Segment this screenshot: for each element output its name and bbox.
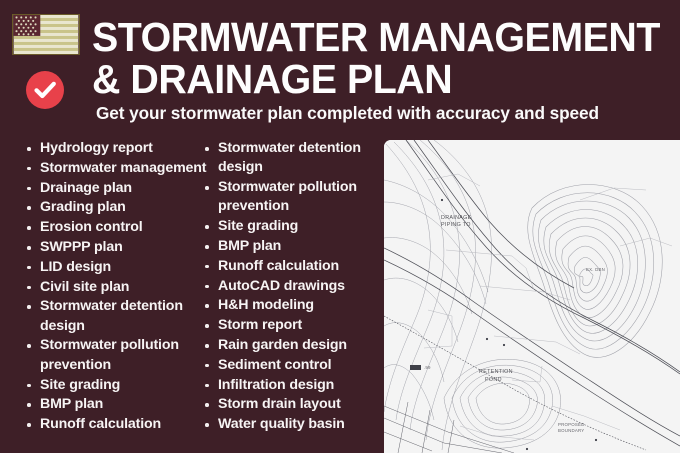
list-item: Stormwater management xyxy=(22,159,208,178)
list-item: Stormwater detention design xyxy=(22,297,208,336)
map-label-retention: RETENTION xyxy=(479,369,513,375)
list-item: Site grading xyxy=(22,376,208,395)
elevation-marker xyxy=(410,365,421,370)
list-item: Sediment control xyxy=(200,356,380,375)
map-label-elevation: .99 xyxy=(424,365,431,370)
map-label-piping: PIPING TO xyxy=(441,222,471,228)
list-item: BMP plan xyxy=(22,395,208,414)
list-item: BMP plan xyxy=(200,237,380,256)
list-item: LID design xyxy=(22,258,208,277)
list-item: Stormwater detention design xyxy=(200,139,380,178)
map-label-pond: POND xyxy=(485,377,502,383)
list-item: H&H modeling xyxy=(200,296,380,315)
map-svg: DRAINAGE PIPING TO RETENTION POND EX. DB… xyxy=(384,140,680,453)
list-item: Civil site plan xyxy=(22,278,208,297)
list-item: Infiltration design xyxy=(200,376,380,395)
list-item: Stormwater pollution prevention xyxy=(200,178,380,217)
title-line-2: & DRAINAGE PLAN xyxy=(92,58,649,100)
check-circle-icon xyxy=(25,70,65,110)
subtitle: Get your stormwater plan completed with … xyxy=(96,103,599,123)
list-item: Drainage plan xyxy=(22,179,208,198)
drainage-plan-map: DRAINAGE PIPING TO RETENTION POND EX. DB… xyxy=(384,140,680,453)
list-item: AutoCAD drawings xyxy=(200,277,380,296)
list-item: Grading plan xyxy=(22,198,208,217)
title-line-1: STORMWATER MANAGEMENT xyxy=(92,16,649,58)
list-item: Water quality basin xyxy=(200,415,380,434)
service-list-right: Stormwater detention design Stormwater p… xyxy=(200,139,380,434)
list-item: Hydrology report xyxy=(22,139,208,158)
list-item: Runoff calculation xyxy=(200,257,380,276)
us-flag-icon xyxy=(12,14,80,55)
list-item: Storm drain layout xyxy=(200,395,380,414)
service-list-left: Hydrology report Stormwater management D… xyxy=(22,139,208,434)
list-item: SWPPP plan xyxy=(22,238,208,257)
map-label-proposed: PROPOSED xyxy=(558,422,585,427)
list-item: Stormwater pollution prevention xyxy=(22,336,208,375)
map-label-boundary: BOUNDARY xyxy=(558,428,584,433)
list-item: Site grading xyxy=(200,217,380,236)
list-item: Storm report xyxy=(200,316,380,335)
service-column-right: Stormwater detention design Stormwater p… xyxy=(200,139,380,435)
page-title: STORMWATER MANAGEMENT & DRAINAGE PLAN xyxy=(92,16,672,100)
map-label-drainage: DRAINAGE xyxy=(441,215,472,221)
service-column-left: Hydrology report Stormwater management D… xyxy=(22,139,208,435)
stormwater-service-banner: STORMWATER MANAGEMENT & DRAINAGE PLAN Ge… xyxy=(0,0,680,453)
list-item: Erosion control xyxy=(22,218,208,237)
list-item: Rain garden design xyxy=(200,336,380,355)
header-section: STORMWATER MANAGEMENT & DRAINAGE PLAN Ge… xyxy=(0,0,680,132)
list-item: Runoff calculation xyxy=(22,415,208,434)
badge-stack xyxy=(12,14,84,55)
map-label-ex-dbn: EX. DBN xyxy=(586,267,605,272)
